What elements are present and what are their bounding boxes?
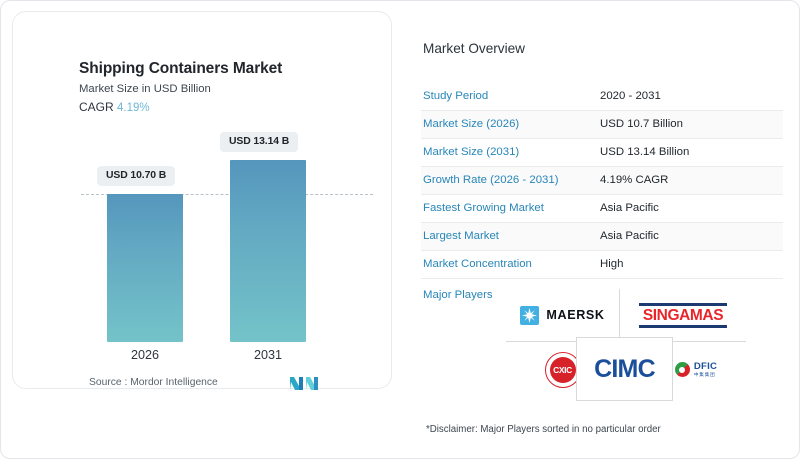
- logo-singamas: SINGAMAS: [620, 289, 746, 341]
- row-value: 2020 - 2031: [598, 82, 783, 110]
- table-row: Fastest Growing Market Asia Pacific: [421, 194, 783, 222]
- singamas-wordmark: SINGAMAS: [639, 307, 727, 324]
- table-row: Market Concentration High: [421, 250, 783, 278]
- bar-label-2026: USD 10.70 B: [97, 166, 175, 186]
- table-row: Growth Rate (2026 - 2031) 4.19% CAGR: [421, 166, 783, 194]
- logo-maersk: MAERSK: [506, 289, 619, 341]
- cagr-label: CAGR: [79, 100, 114, 114]
- logo-cimc: CIMC: [576, 337, 673, 401]
- row-key: Growth Rate (2026 - 2031): [421, 166, 598, 194]
- singamas-bar-top: [639, 303, 727, 306]
- overview-heading: Market Overview: [423, 41, 783, 56]
- cxic-wordmark: CXIC: [553, 365, 572, 375]
- row-value: Asia Pacific: [598, 222, 783, 250]
- x-axis-tick-2031: 2031: [228, 348, 308, 362]
- bar-2031: [230, 160, 306, 342]
- overview-table: Study Period 2020 - 2031 Market Size (20…: [421, 82, 783, 306]
- page-title: Shipping Containers Market: [79, 60, 282, 78]
- row-value: 4.19% CAGR: [598, 166, 783, 194]
- mordor-intelligence-logo-icon: [290, 375, 318, 396]
- table-row: Largest Market Asia Pacific: [421, 222, 783, 250]
- row-value: Asia Pacific: [598, 194, 783, 222]
- cimc-wordmark: CIMC: [594, 355, 655, 384]
- row-value: USD 13.14 Billion: [598, 138, 783, 166]
- maersk-star-icon: [520, 306, 539, 325]
- singamas-bar-bottom: [639, 325, 727, 328]
- row-key: Study Period: [421, 82, 598, 110]
- table-row: Market Size (2031) USD 13.14 Billion: [421, 138, 783, 166]
- bar-chart-plot: USD 10.70 B USD 13.14 B 2026 2031: [75, 130, 375, 342]
- table-row: Study Period 2020 - 2031: [421, 82, 783, 110]
- major-players-label: Major Players: [423, 289, 493, 301]
- x-axis-tick-2026: 2026: [105, 348, 185, 362]
- bar-label-2031: USD 13.14 B: [220, 132, 298, 152]
- cagr-line: CAGR 4.19%: [79, 100, 150, 114]
- disclaimer-text: *Disclaimer: Major Players sorted in no …: [426, 424, 661, 435]
- chart-card: Shipping Containers Market Market Size i…: [12, 11, 392, 389]
- source-text: Source : Mordor Intelligence: [89, 377, 218, 388]
- chart-subtitle: Market Size in USD Billion: [79, 83, 211, 95]
- row-key: Market Size (2026): [421, 110, 598, 138]
- row-key: Fastest Growing Market: [421, 194, 598, 222]
- maersk-wordmark: MAERSK: [546, 308, 604, 322]
- cagr-value: 4.19%: [117, 102, 150, 114]
- dfic-wordmark: DFIC: [694, 362, 717, 372]
- row-key: Market Size (2031): [421, 138, 598, 166]
- row-key: Market Concentration: [421, 250, 598, 278]
- market-overview-infographic: Shipping Containers Market Market Size i…: [0, 0, 800, 459]
- row-value: High: [598, 250, 783, 278]
- table-row: Market Size (2026) USD 10.7 Billion: [421, 110, 783, 138]
- row-value: USD 10.7 Billion: [598, 110, 783, 138]
- row-key: Largest Market: [421, 222, 598, 250]
- market-overview-panel: Market Overview Study Period 2020 - 2031…: [421, 41, 783, 306]
- bar-2026: [107, 194, 183, 342]
- dfic-subtext: 中集集团: [694, 373, 717, 378]
- dfic-globe-icon: [675, 362, 690, 377]
